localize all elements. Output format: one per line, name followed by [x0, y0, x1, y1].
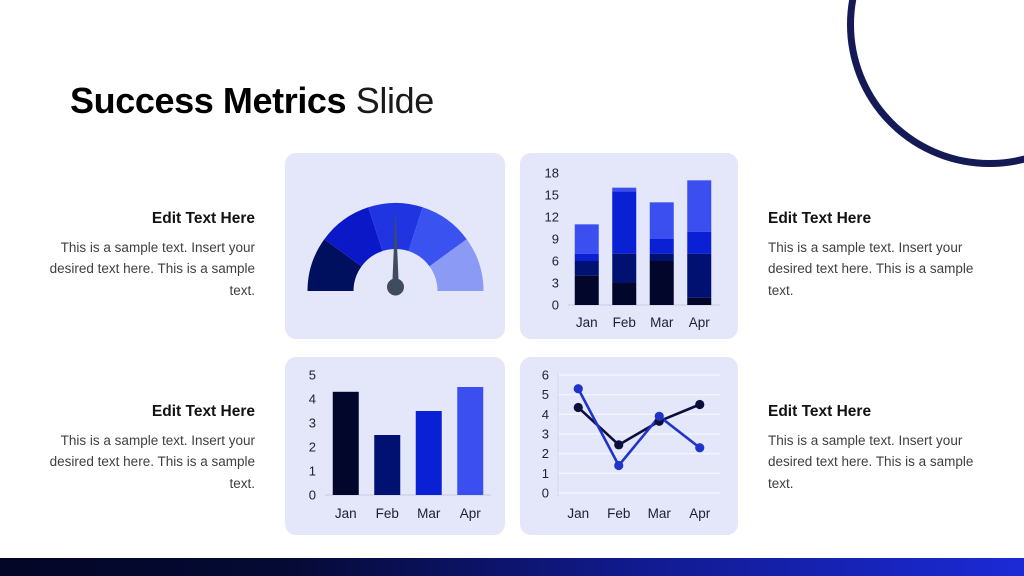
y-axis-tick-label: 15 [545, 188, 559, 203]
x-axis-tick-label: Jan [335, 506, 357, 521]
y-axis-tick-label: 5 [542, 387, 549, 402]
text-block-body: This is a sample text. Insert your desir… [768, 430, 983, 494]
gauge-chart [303, 191, 488, 301]
x-axis-tick-label: Apr [460, 506, 482, 521]
stacked-bar-segment [650, 261, 674, 305]
line-data-point [574, 403, 583, 412]
text-block-heading: Edit Text Here [40, 403, 255, 421]
y-axis-tick-label: 2 [309, 440, 316, 455]
bar [374, 435, 400, 495]
x-axis-tick-label: Feb [613, 315, 636, 330]
stacked-bar-segment [650, 239, 674, 254]
stacked-bar-segment [612, 254, 636, 283]
decorative-circle-arc [847, 0, 1024, 167]
text-block-body: This is a sample text. Insert your desir… [40, 237, 255, 301]
line-data-point [655, 412, 664, 421]
x-axis-tick-label: Apr [689, 315, 711, 330]
bar [333, 392, 359, 495]
line-data-point [614, 440, 623, 449]
bar [457, 387, 483, 495]
stacked-bar-segment [575, 261, 599, 276]
bar-chart: 543210JanFebMarApr [285, 357, 505, 535]
y-axis-tick-label: 6 [542, 368, 549, 383]
y-axis-tick-label: 0 [542, 486, 549, 501]
y-axis-tick-label: 0 [552, 298, 559, 313]
y-axis-tick-label: 3 [542, 427, 549, 442]
card-line-chart: 6543210JanFebMarApr [520, 357, 738, 535]
text-block-bottom-right: Edit Text Here This is a sample text. In… [768, 403, 983, 494]
y-axis-tick-label: 18 [545, 166, 559, 181]
stacked-bar-segment [575, 224, 599, 253]
stacked-bar-segment [687, 232, 711, 254]
text-block-bottom-left: Edit Text Here This is a sample text. In… [40, 403, 255, 494]
line-data-point [695, 443, 704, 452]
stacked-bar-segment [687, 254, 711, 298]
page-title: Success Metrics Slide [70, 80, 434, 122]
stacked-bar-chart: 1815129630JanFebMarApr [520, 153, 738, 339]
text-block-heading: Edit Text Here [40, 210, 255, 228]
y-axis-tick-label: 6 [552, 254, 559, 269]
card-gauge-chart [285, 153, 505, 339]
y-axis-tick-label: 4 [542, 407, 549, 422]
y-axis-tick-label: 1 [542, 466, 549, 481]
text-block-heading: Edit Text Here [768, 403, 983, 421]
text-block-heading: Edit Text Here [768, 210, 983, 228]
page-title-bold: Success Metrics [70, 80, 346, 121]
text-block-body: This is a sample text. Insert your desir… [768, 237, 983, 301]
x-axis-tick-label: Feb [607, 506, 630, 521]
stacked-bar-segment [575, 254, 599, 261]
card-stacked-bar-chart: 1815129630JanFebMarApr [520, 153, 738, 339]
line-data-point [614, 461, 623, 470]
page-title-light: Slide [356, 80, 434, 121]
x-axis-tick-label: Mar [417, 506, 441, 521]
stacked-bar-segment [612, 191, 636, 253]
stacked-bar-segment [575, 276, 599, 305]
x-axis-tick-label: Mar [650, 315, 674, 330]
line-data-point [574, 384, 583, 393]
stacked-bar-segment [612, 283, 636, 305]
text-block-top-left: Edit Text Here This is a sample text. In… [40, 210, 255, 301]
y-axis-tick-label: 5 [309, 368, 316, 383]
x-axis-tick-label: Apr [689, 506, 711, 521]
y-axis-tick-label: 3 [552, 276, 559, 291]
x-axis-tick-label: Mar [648, 506, 672, 521]
stacked-bar-segment [612, 188, 636, 192]
gauge-needle-hub [387, 279, 404, 296]
line-chart: 6543210JanFebMarApr [520, 357, 738, 535]
y-axis-tick-label: 2 [542, 446, 549, 461]
text-block-top-right: Edit Text Here This is a sample text. In… [768, 210, 983, 301]
y-axis-tick-label: 0 [309, 488, 316, 503]
stacked-bar-segment [687, 298, 711, 305]
x-axis-tick-label: Jan [576, 315, 598, 330]
y-axis-tick-label: 4 [309, 392, 316, 407]
y-axis-tick-label: 12 [545, 210, 559, 225]
y-axis-tick-label: 9 [552, 232, 559, 247]
line-data-point [695, 400, 704, 409]
stacked-bar-segment [650, 254, 674, 261]
y-axis-tick-label: 3 [309, 416, 316, 431]
stacked-bar-segment [687, 180, 711, 231]
bar [416, 411, 442, 495]
bottom-accent-bar [0, 558, 1024, 576]
x-axis-tick-label: Jan [567, 506, 589, 521]
text-block-body: This is a sample text. Insert your desir… [40, 430, 255, 494]
y-axis-tick-label: 1 [309, 464, 316, 479]
stacked-bar-segment [650, 202, 674, 239]
card-bar-chart: 543210JanFebMarApr [285, 357, 505, 535]
x-axis-tick-label: Feb [376, 506, 399, 521]
